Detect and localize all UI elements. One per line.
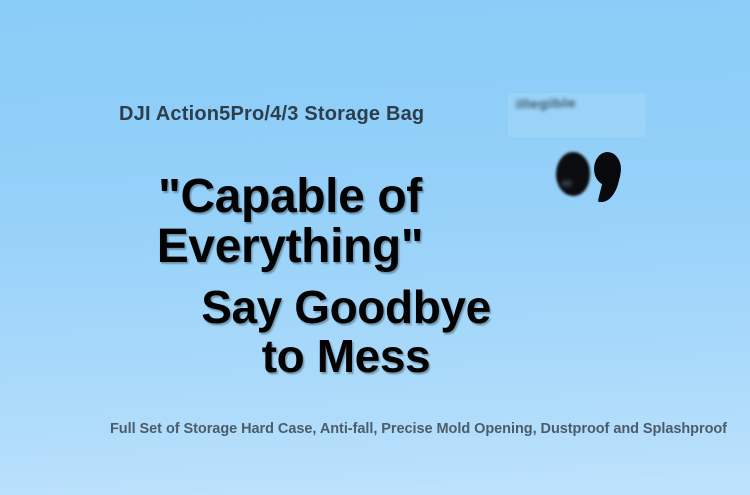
headline-secondary: Say Goodbye to Mess	[0, 283, 692, 381]
headline-line-3: Say Goodbye	[0, 283, 692, 332]
headline-primary: "Capable of Everything"	[0, 172, 580, 272]
quote-glyph-right-head	[594, 152, 621, 186]
watermark-panel	[508, 93, 646, 137]
quote-glyph-right-tail	[598, 175, 621, 202]
quote-glyph-right	[594, 148, 624, 204]
promo-banner: illegible DJI Action5Pro/4/3 Storage Bag…	[0, 0, 750, 495]
headline-line-4: to Mess	[0, 332, 692, 381]
product-title: DJI Action5Pro/4/3 Storage Bag	[119, 103, 424, 126]
headline-line-1: "Capable of	[0, 172, 580, 222]
headline-line-2: Everything"	[0, 222, 580, 272]
blurred-watermark-text: illegible	[516, 96, 613, 117]
feature-caption: Full Set of Storage Hard Case, Anti-fall…	[110, 421, 727, 437]
